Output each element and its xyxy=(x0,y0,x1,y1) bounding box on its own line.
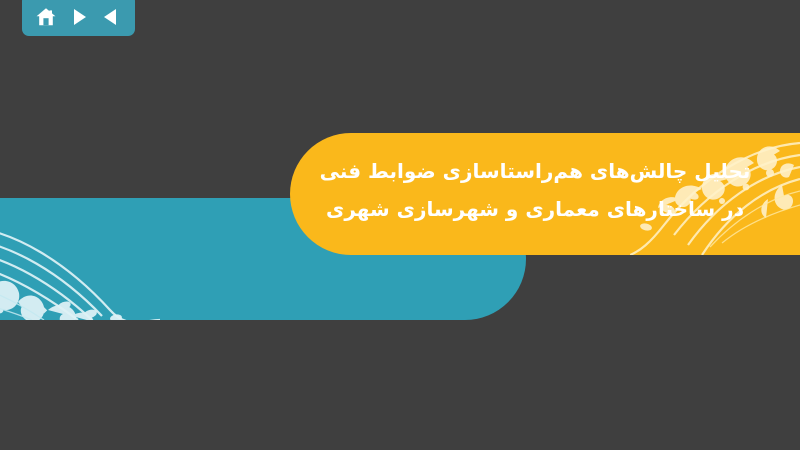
home-icon xyxy=(35,6,57,28)
presentation-slide: تحلیل چالش‌های هم‌راستاسازی ضوابط فنی در… xyxy=(0,0,800,450)
title-line-1: تحلیل چالش‌های هم‌راستاسازی ضوابط فنی xyxy=(300,152,770,190)
next-button[interactable] xyxy=(66,4,92,30)
triangle-right-icon xyxy=(69,7,89,27)
triangle-left-icon xyxy=(101,7,121,27)
home-button[interactable] xyxy=(33,4,59,30)
previous-button[interactable] xyxy=(98,4,124,30)
teal-arabesque-ornament xyxy=(0,198,160,320)
navigation-bar xyxy=(22,0,135,36)
title-line-2: در ساختارهای معماری و شهرسازی شهری xyxy=(300,190,770,228)
slide-title: تحلیل چالش‌های هم‌راستاسازی ضوابط فنی در… xyxy=(300,152,770,228)
